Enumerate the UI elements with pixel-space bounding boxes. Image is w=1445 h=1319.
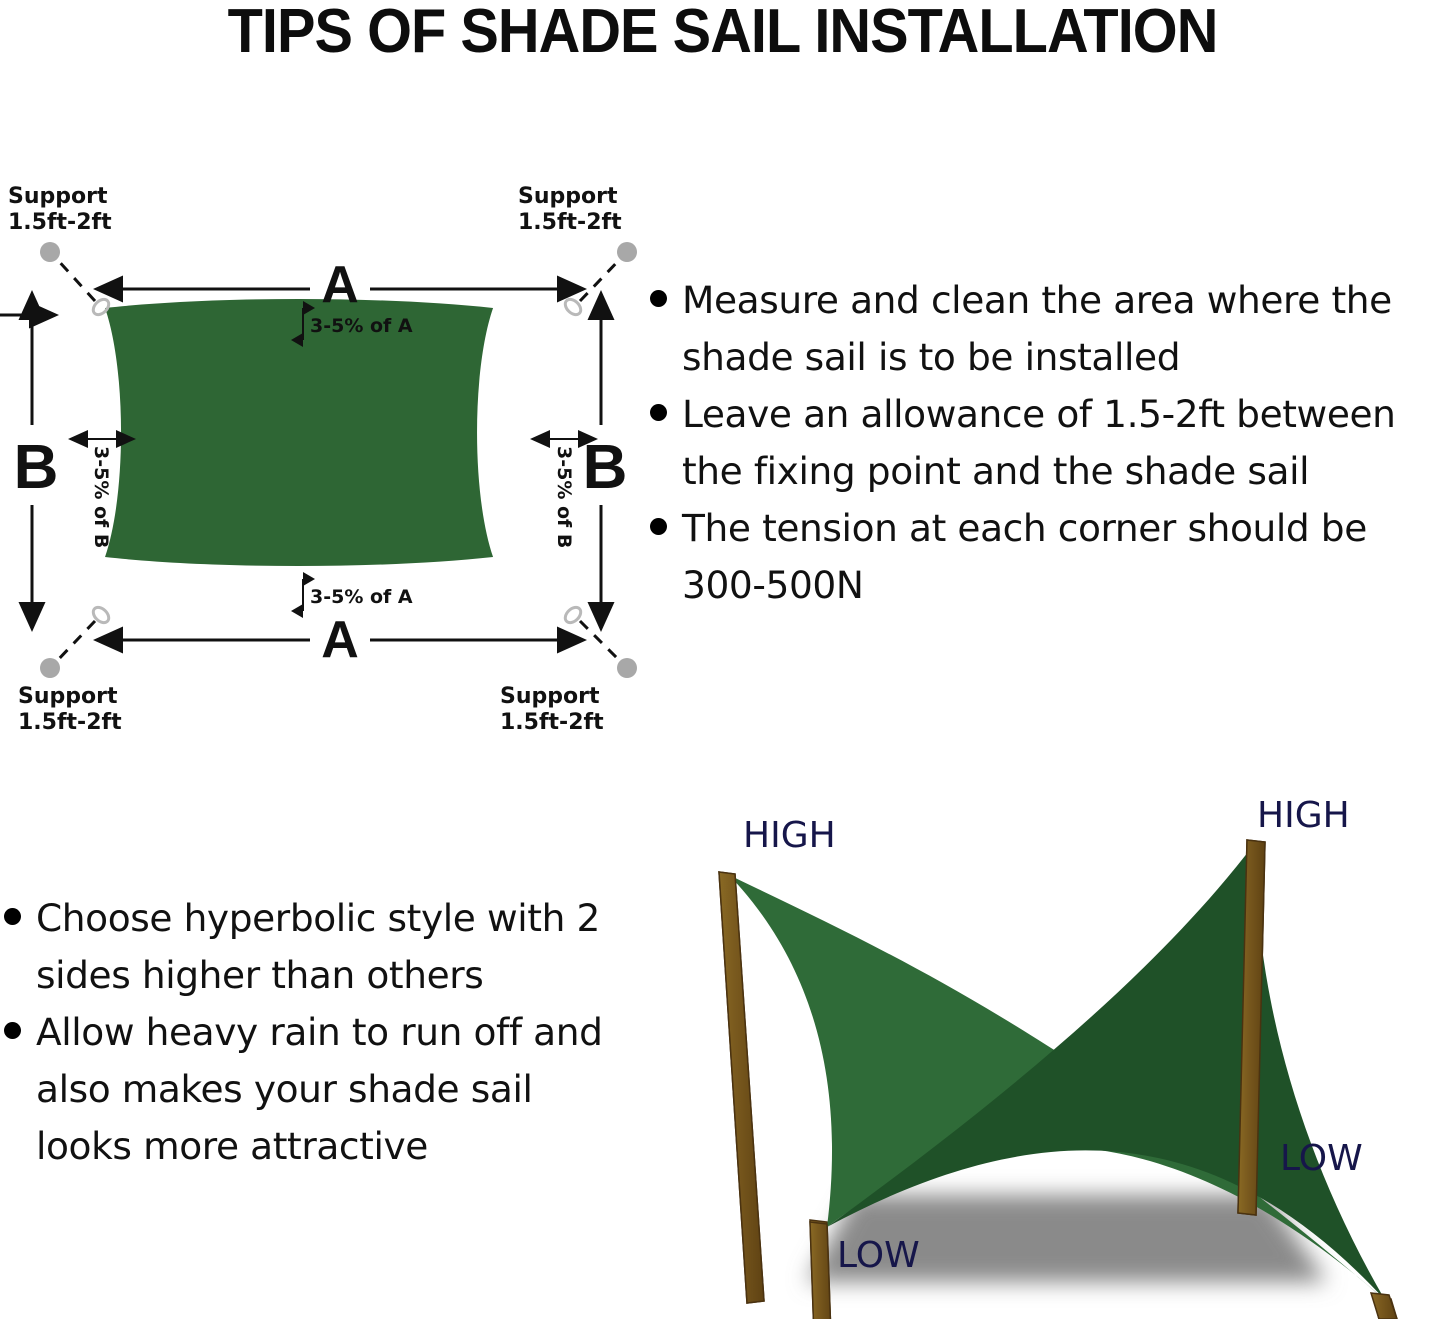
list-item: Allow heavy rain to run off and also mak… [4, 1004, 624, 1175]
post-low-right-front [1371, 1293, 1397, 1319]
dimension-b-right-label: B [583, 433, 628, 502]
dimension-a-top-label: A [321, 256, 359, 314]
svg-text:1.5ft-2ft: 1.5ft-2ft [18, 710, 122, 735]
label-low-right-overlay: LOW [1280, 1130, 1420, 1190]
tip-text: The tension at each corner should be 300… [682, 500, 1445, 614]
dimension-a-bottom-label: A [321, 611, 359, 669]
curve-b-right-label: 3-5% of B [553, 446, 575, 548]
list-item: The tension at each corner should be 300… [650, 500, 1445, 614]
svg-text:Support: Support [518, 184, 618, 209]
tip-text: Measure and clean the area where the sha… [682, 272, 1445, 386]
sail-body [105, 299, 493, 566]
bullet-icon [650, 518, 667, 535]
curve-a-bottom-label: 3-5% of A [310, 586, 413, 608]
post-high-left-front [719, 872, 764, 1303]
page-title: TIPS OF SHADE SAIL INSTALLATION [51, 0, 1395, 67]
bullet-icon [650, 290, 667, 307]
tips-left-list: Choose hyperbolic style with 2 sides hig… [4, 890, 624, 1175]
svg-text:Support: Support [8, 184, 108, 209]
bullet-icon [4, 1022, 21, 1039]
bullet-icon [4, 908, 21, 925]
hyperbolic-shade-sail-illustration: HIGH HIGH LOW [655, 785, 1445, 1319]
curve-a-top-label: 3-5% of A [310, 315, 413, 337]
rectangle-shade-sail-dimension-diagram: Support 1.5ft-2ft Support 1.5ft-2ft Supp… [0, 165, 680, 735]
svg-text:Support: Support [18, 684, 118, 709]
dimension-b-left-label: B [14, 433, 59, 502]
tip-text: Choose hyperbolic style with 2 sides hig… [36, 890, 624, 1004]
label-high-right: HIGH [1257, 795, 1350, 836]
support-label-bottom-left: Support 1.5ft-2ft [18, 684, 122, 735]
svg-text:1.5ft-2ft: 1.5ft-2ft [500, 710, 604, 735]
support-label-bottom-right: Support 1.5ft-2ft [500, 684, 604, 735]
post-low-left-visible [810, 1193, 831, 1222]
label-low-right-text: LOW [1280, 1138, 1363, 1179]
infographic-page: TIPS OF SHADE SAIL INSTALLATION [0, 0, 1445, 1319]
list-item: Leave an allowance of 1.5-2ft between th… [650, 386, 1445, 500]
curve-b-left-label: 3-5% of B [90, 446, 112, 548]
svg-text:1.5ft-2ft: 1.5ft-2ft [518, 210, 622, 235]
support-label-top-right: Support 1.5ft-2ft [518, 184, 622, 235]
bullet-icon [650, 404, 667, 421]
svg-text:Support: Support [500, 684, 600, 709]
label-low-left: LOW [837, 1235, 920, 1276]
tip-text: Allow heavy rain to run off and also mak… [36, 1004, 624, 1175]
tips-right-list: Measure and clean the area where the sha… [650, 272, 1445, 614]
support-label-top-left: Support 1.5ft-2ft [8, 184, 112, 235]
label-high-left: HIGH [743, 815, 836, 856]
list-item: Measure and clean the area where the sha… [650, 272, 1445, 386]
tip-text: Leave an allowance of 1.5-2ft between th… [682, 386, 1445, 500]
list-item: Choose hyperbolic style with 2 sides hig… [4, 890, 624, 1004]
svg-text:1.5ft-2ft: 1.5ft-2ft [8, 210, 112, 235]
